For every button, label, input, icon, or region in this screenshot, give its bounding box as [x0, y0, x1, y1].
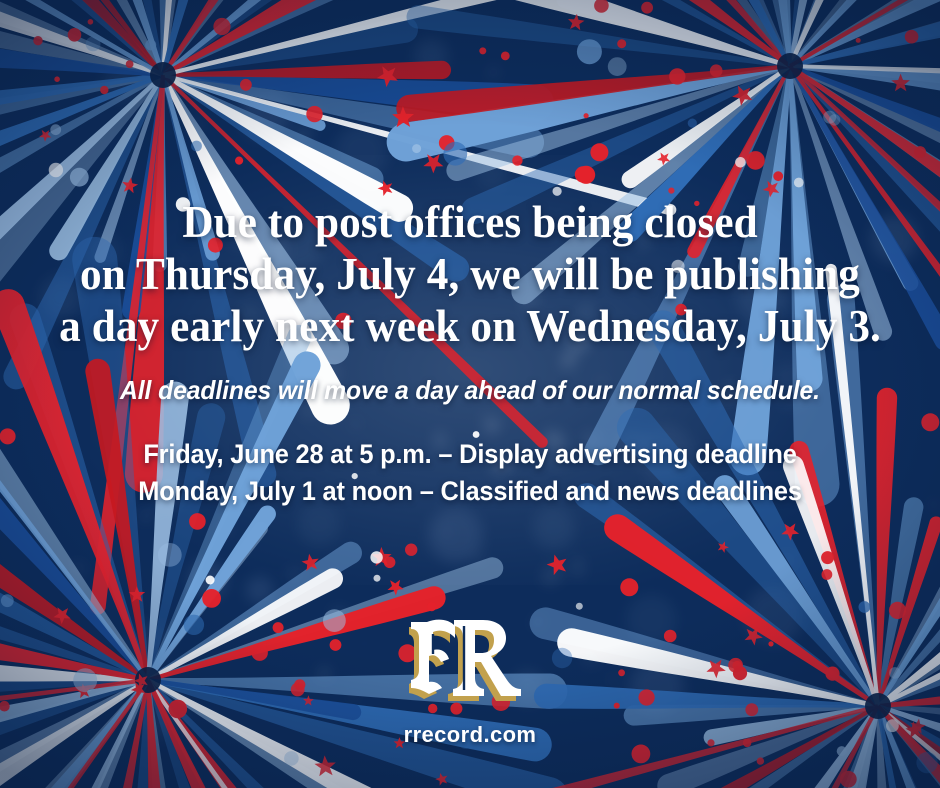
rappahannock-record-r-logo-icon: [409, 612, 531, 708]
deadline-list: Friday, June 28 at 5 p.m. – Display adve…: [0, 436, 940, 510]
headline-line-1: Due to post offices being closed: [59, 196, 881, 248]
headline-line-2: on Thursday, July 4, we will be publishi…: [59, 248, 881, 300]
brand-block: rrecord.com: [0, 612, 940, 748]
headline-line-3: a day early next week on Wednesday, July…: [59, 300, 881, 352]
deadline-item-display-advertising: Friday, June 28 at 5 p.m. – Display adve…: [28, 436, 912, 473]
subheadline: All deadlines will move a day ahead of o…: [24, 374, 917, 406]
poster-content: Due to post offices being closed on Thur…: [0, 0, 940, 788]
site-url-label: rrecord.com: [404, 722, 537, 748]
fourth-of-july-deadline-poster: Due to post offices being closed on Thur…: [0, 0, 940, 788]
deadline-item-classified-and-news: Monday, July 1 at noon – Classified and …: [28, 473, 912, 510]
headline-block: Due to post offices being closed on Thur…: [42, 196, 898, 352]
